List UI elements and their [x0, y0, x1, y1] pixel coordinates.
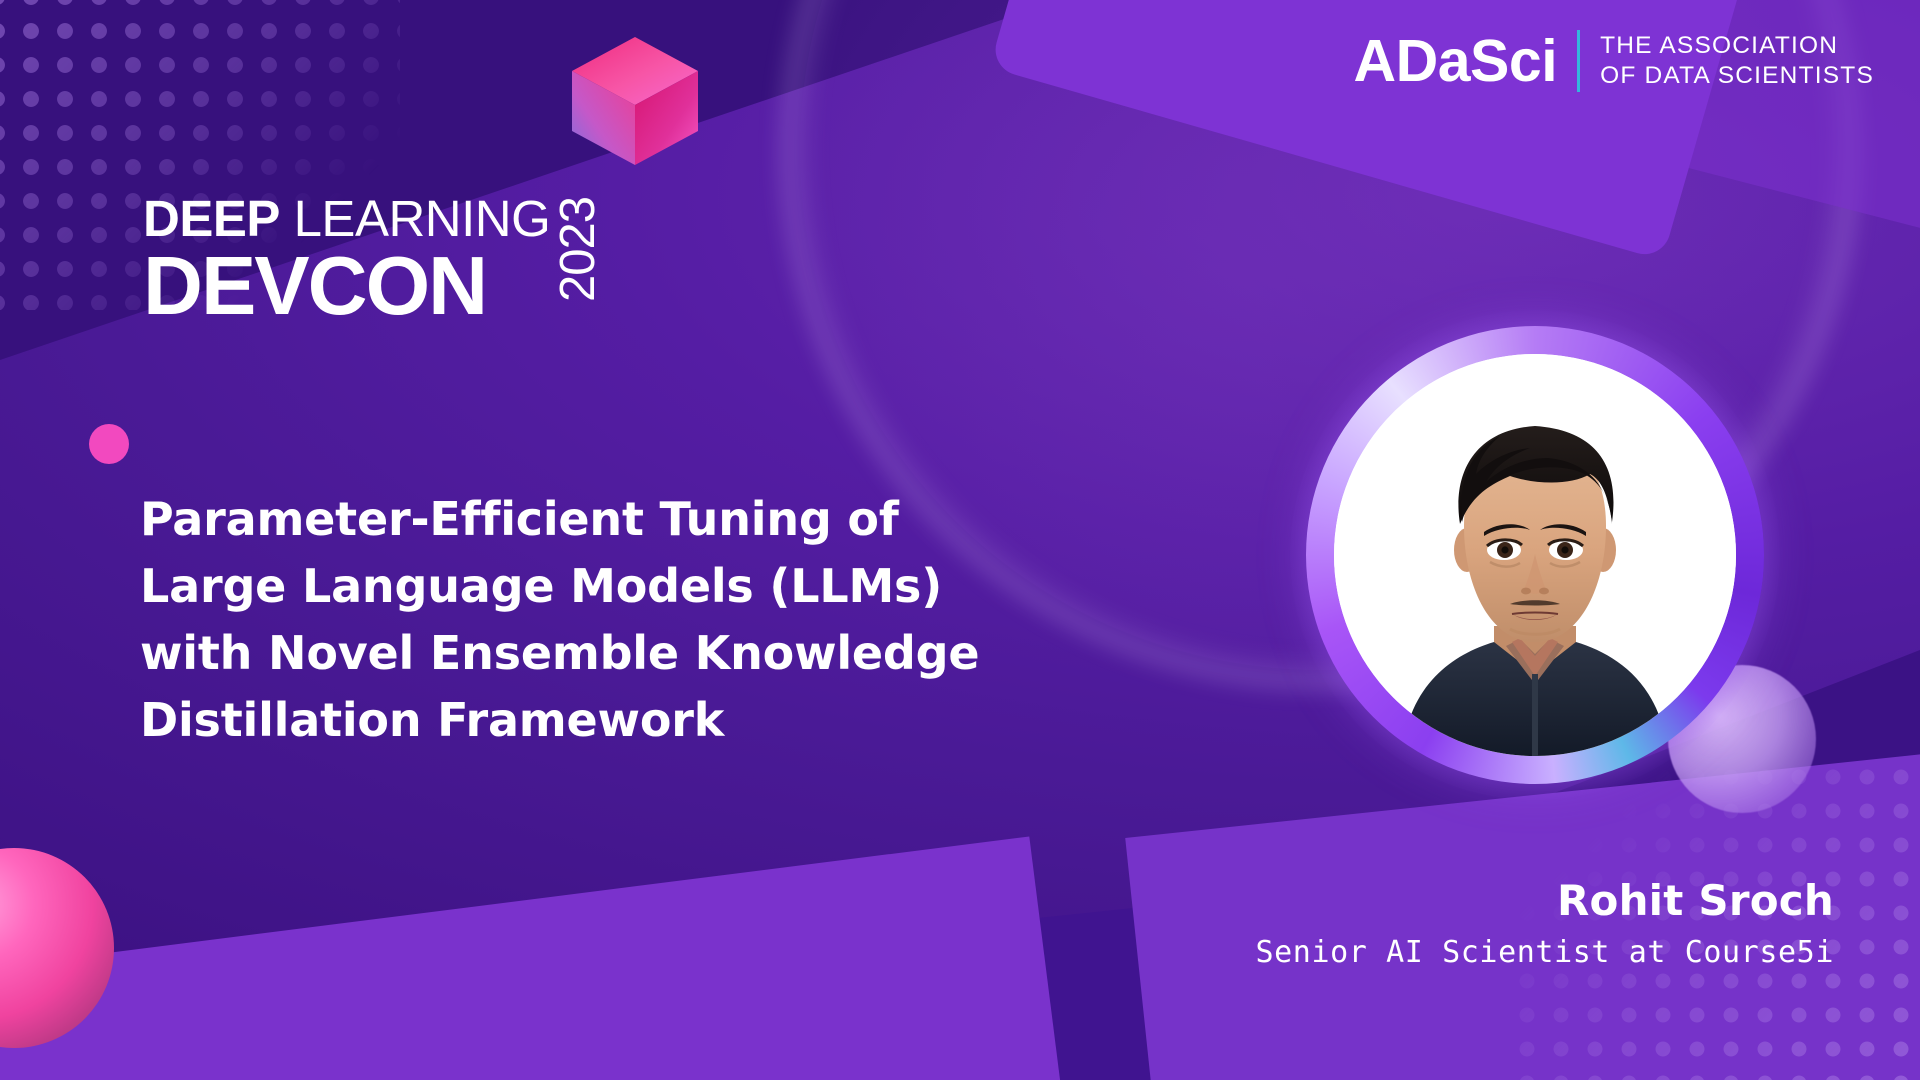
talk-title: Parameter-Efficient Tuning of Large Lang…	[140, 486, 1140, 755]
talk-title-line-4: Distillation Framework	[140, 687, 1140, 754]
adasci-wordmark: ADaSci	[1354, 32, 1558, 91]
avatar-photo	[1334, 354, 1736, 756]
presentation-slide: ADaSci THE ASSOCIATION OF DATA SCIENTIST…	[0, 0, 1920, 1080]
pink-dot	[89, 424, 129, 464]
talk-title-line-2: Large Language Models (LLMs)	[140, 553, 1140, 620]
talk-title-line-1: Parameter-Efficient Tuning of	[140, 486, 1140, 553]
adasci-logo: ADaSci THE ASSOCIATION OF DATA SCIENTIST…	[1354, 30, 1874, 92]
adasci-divider	[1577, 30, 1580, 92]
devcon-logo-year: 2023	[554, 197, 603, 302]
talk-title-line-3: with Novel Ensemble Knowledge	[140, 620, 1140, 687]
speaker-role: Senior AI Scientist at Course5i	[1255, 938, 1834, 968]
adasci-tagline: THE ASSOCIATION OF DATA SCIENTISTS	[1600, 31, 1874, 91]
avatar	[1306, 326, 1764, 784]
devcon-logo-line2: DEVCON	[143, 248, 550, 324]
devcon-logo: DEEP LEARNING DEVCON 2023	[143, 195, 603, 324]
speaker-name: Rohit Sroch	[1557, 880, 1834, 922]
gradient-cube-icon	[570, 35, 700, 167]
devcon-logo-line1: DEEP LEARNING	[143, 195, 550, 244]
